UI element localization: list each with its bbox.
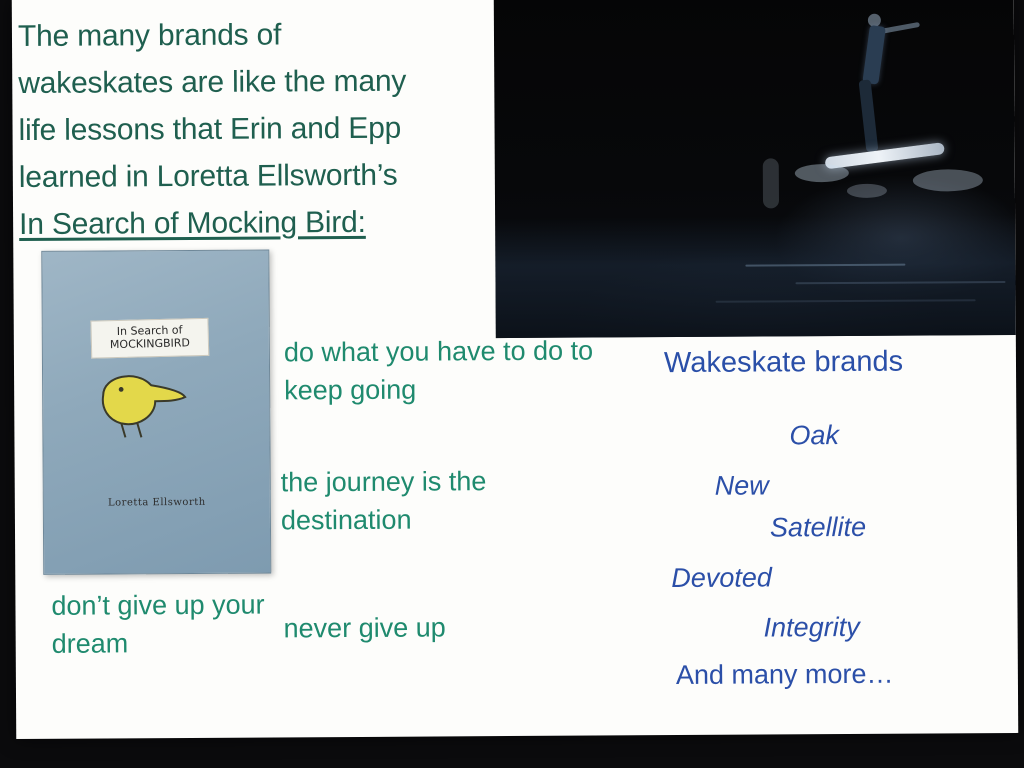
book-cover-title-line2: MOCKINGBIRD [110, 336, 190, 351]
quote-the-journey-is-the-destination: the journey is the destination [281, 461, 601, 539]
wakeskate-board-shape [824, 142, 945, 169]
heading-line-2: wakeskates are like the many [18, 57, 488, 107]
heading-line-4: learned in Loretta Ellsworth’s [19, 151, 489, 201]
quote-never-give-up: never give up [283, 608, 523, 647]
brand-item-devoted: Devoted [671, 562, 772, 594]
quote-dont-give-up-your-dream: don’t give up your dream [51, 585, 291, 662]
brands-and-many-more: And many more… [676, 659, 894, 691]
slide-heading: The many brands of wakeskates are like t… [18, 10, 489, 248]
water-surface [495, 215, 1016, 338]
slide-photo-frame: The many brands of wakeskates are like t… [0, 0, 1024, 768]
presentation-slide: The many brands of wakeskates are like t… [12, 0, 1019, 739]
heading-line-1: The many brands of [18, 10, 488, 60]
water-spray-3 [847, 184, 887, 198]
brand-item-integrity: Integrity [764, 612, 860, 644]
book-cover-image: In Search of MOCKINGBIRD Loretta Ellswor… [41, 249, 271, 574]
book-cover-author: Loretta Ellsworth [44, 497, 270, 509]
brand-item-new: New [715, 470, 769, 501]
bird-illustration-icon [85, 361, 195, 440]
book-cover-title-label: In Search of MOCKINGBIRD [90, 318, 209, 359]
heading-book-title: In Search of Mocking Bird: [19, 198, 489, 248]
brand-item-satellite: Satellite [770, 512, 866, 544]
wakeskate-night-photo [494, 0, 1016, 338]
rider-body-shape [862, 25, 886, 85]
brands-list-title: Wakeskate brands [664, 345, 994, 380]
rider-legs-shape [859, 79, 879, 152]
brand-item-oak: Oak [789, 420, 839, 451]
water-spray-2 [913, 169, 983, 191]
quote-do-what-you-have-to-do: do what you have to do to keep going [284, 331, 614, 409]
water-spray-4 [763, 158, 779, 208]
heading-line-3: life lessons that Erin and Epp [18, 104, 488, 154]
water-spray-1 [795, 164, 849, 182]
